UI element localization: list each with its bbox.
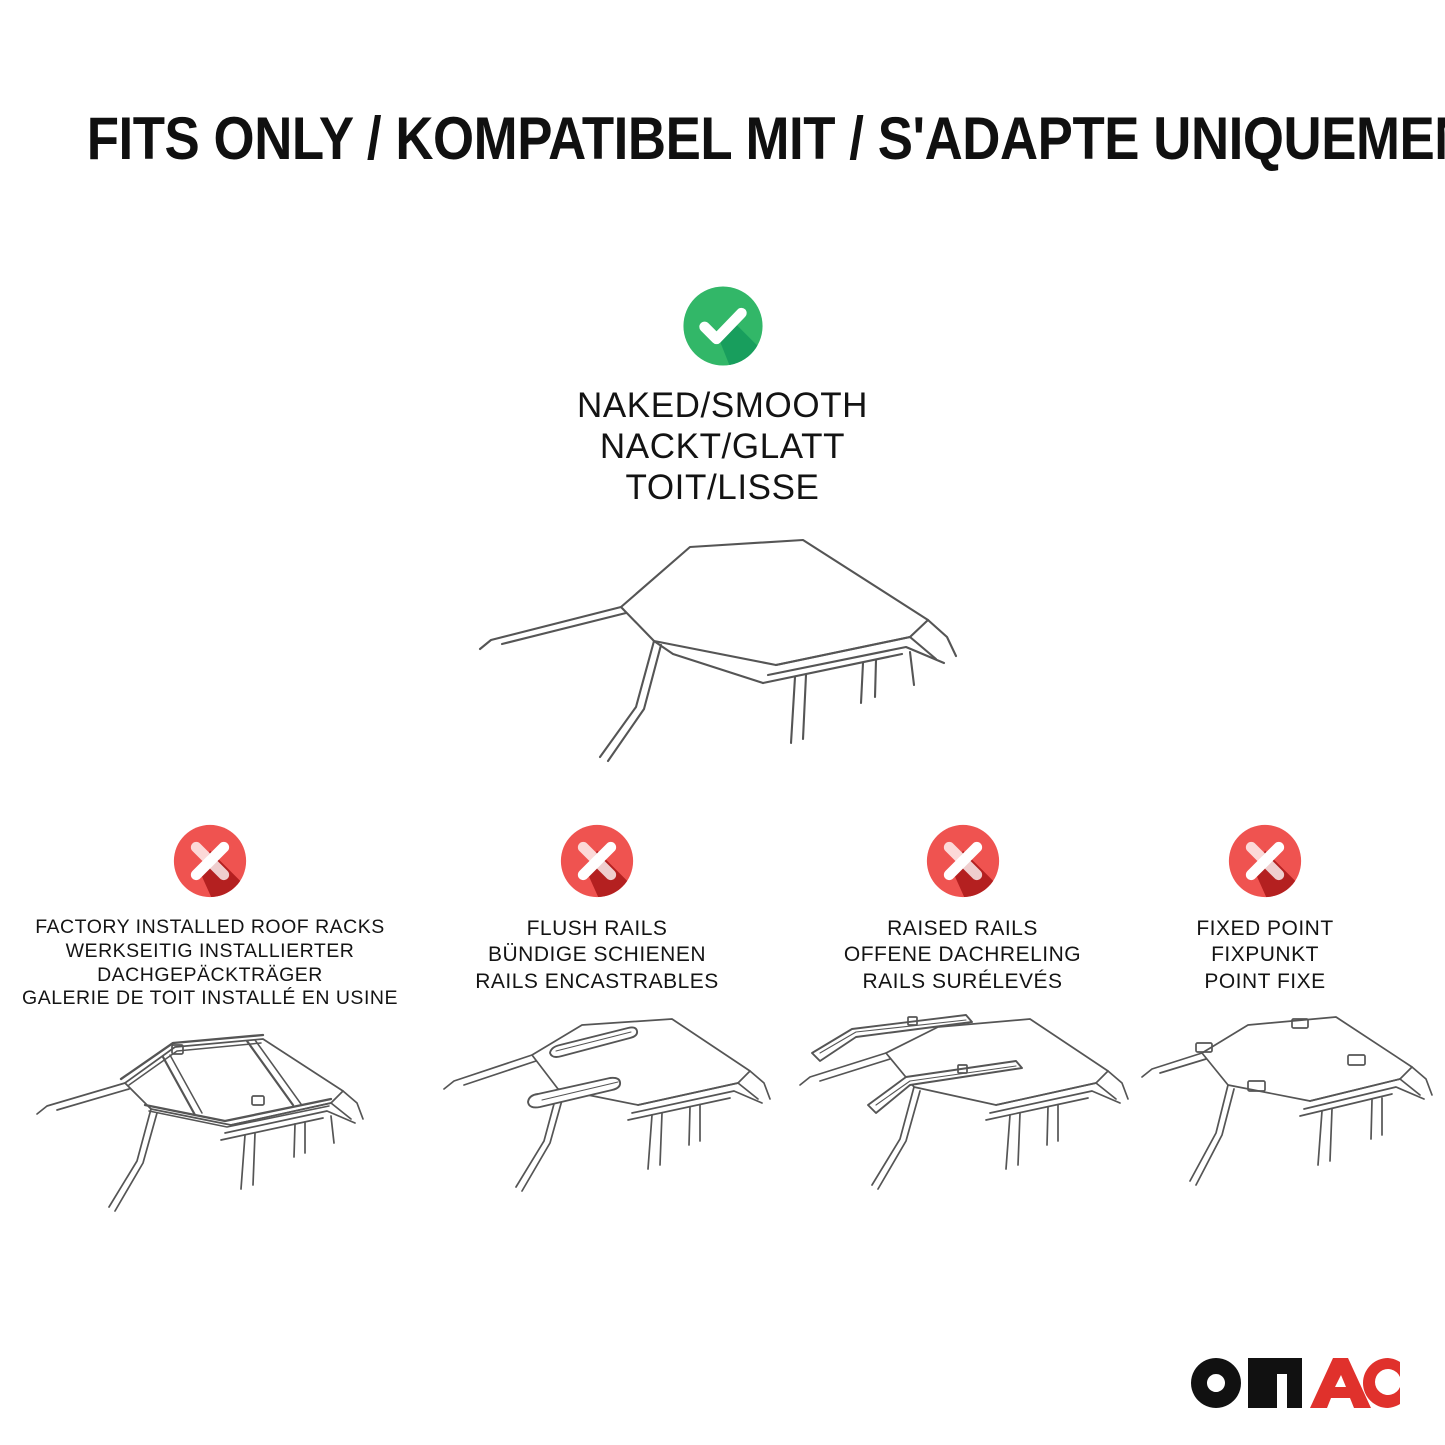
check-circle-icon — [677, 280, 769, 372]
caption-line-en: FLUSH RAILS — [432, 916, 762, 942]
incompatible-block-raised-rails: RAISED RAILS OFFENE DACHRELING RAILS SUR… — [790, 818, 1135, 1220]
incompatible-caption-raised-rails: RAISED RAILS OFFENE DACHRELING RAILS SUR… — [790, 916, 1135, 995]
x-circle-icon — [554, 818, 640, 904]
compatible-roof-block: NAKED/SMOOTH NACKT/GLATT TOIT/LISSE — [425, 280, 1020, 750]
caption-line-fr: RAILS ENCASTRABLES — [432, 969, 762, 995]
raised-rails-illustration — [790, 1005, 1135, 1220]
caption-line-fr: GALERIE DE TOIT INSTALLÉ EN USINE — [10, 987, 410, 1011]
omac-logo: OMAC — [1185, 1352, 1400, 1414]
compatible-caption-line-en: NAKED/SMOOTH — [425, 386, 1020, 427]
x-circle-icon — [167, 818, 253, 904]
x-circle-icon — [1222, 818, 1308, 904]
factory-roof-rack-illustration — [10, 1021, 410, 1236]
caption-line-fr: POINT FIXE — [1140, 969, 1390, 995]
compatible-caption: NAKED/SMOOTH NACKT/GLATT TOIT/LISSE — [425, 386, 1020, 509]
caption-line-de-2: DACHGEPÄCKTRÄGER — [10, 964, 410, 988]
compatible-caption-line-de: NACKT/GLATT — [425, 427, 1020, 468]
incompatible-caption-fixed-point: FIXED POINT FIXPUNKT POINT FIXE — [1140, 916, 1390, 995]
caption-line-de: FIXPUNKT — [1140, 942, 1390, 968]
incompatible-block-fixed-point: FIXED POINT FIXPUNKT POINT FIXE — [1140, 818, 1390, 1220]
flush-rails-illustration — [432, 1005, 762, 1220]
incompatible-caption-factory-installed-roof-racks: FACTORY INSTALLED ROOF RACKS WERKSEITIG … — [10, 916, 410, 1011]
incompatible-block-flush-rails: FLUSH RAILS BÜNDIGE SCHIENEN RAILS ENCAS… — [432, 818, 762, 1220]
caption-line-fr: RAILS SURÉLEVÉS — [790, 969, 1135, 995]
caption-line-de: BÜNDIGE SCHIENEN — [432, 942, 762, 968]
caption-line-en: FIXED POINT — [1140, 916, 1390, 942]
naked-smooth-roof-illustration — [425, 525, 1020, 765]
caption-line-en: FACTORY INSTALLED ROOF RACKS — [10, 916, 410, 940]
fixed-point-illustration — [1140, 1005, 1390, 1220]
compatibility-infographic: FITS ONLY / KOMPATIBEL MIT / S'ADAPTE UN… — [0, 0, 1445, 1445]
caption-line-de: OFFENE DACHRELING — [790, 942, 1135, 968]
compatible-caption-line-fr: TOIT/LISSE — [425, 468, 1020, 509]
caption-line-de-1: WERKSEITIG INSTALLIERTER — [10, 940, 410, 964]
page-title: FITS ONLY / KOMPATIBEL MIT / S'ADAPTE UN… — [87, 104, 1359, 173]
incompatible-caption-flush-rails: FLUSH RAILS BÜNDIGE SCHIENEN RAILS ENCAS… — [432, 916, 762, 995]
incompatible-block-factory-installed-roof-racks: FACTORY INSTALLED ROOF RACKS WERKSEITIG … — [10, 818, 410, 1236]
caption-line-en: RAISED RAILS — [790, 916, 1135, 942]
x-circle-icon — [920, 818, 1006, 904]
